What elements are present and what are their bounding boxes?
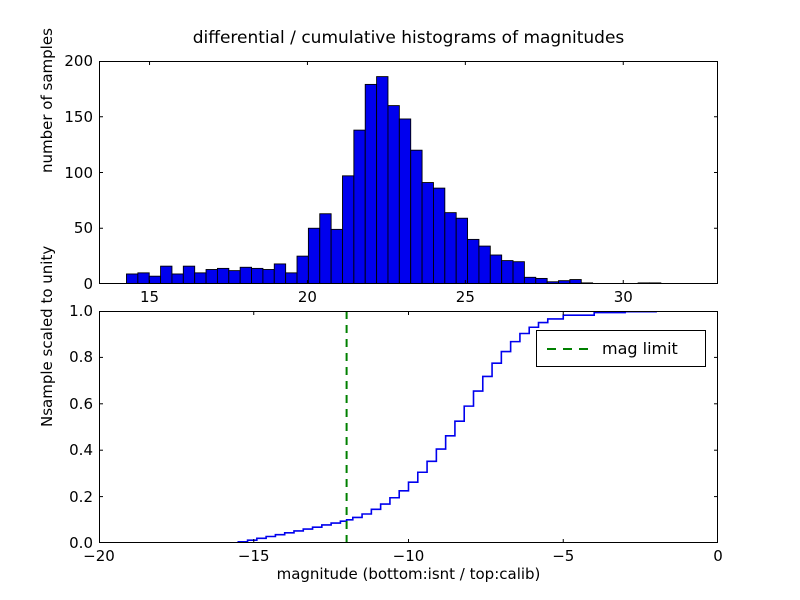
bottom-y-tick: 0.6	[69, 395, 93, 413]
histogram-bar	[217, 268, 228, 284]
top-y-tick: 200	[64, 52, 93, 70]
histogram-bar	[422, 183, 433, 284]
top-x-tick: 30	[614, 288, 633, 306]
histogram-bar	[490, 255, 501, 284]
top-x-tick: 20	[298, 288, 317, 306]
histogram-bar	[308, 228, 319, 284]
top-y-tick: 0	[83, 275, 93, 293]
histogram-bar	[252, 268, 263, 284]
histogram-bar	[161, 266, 172, 284]
histogram-bar	[433, 188, 444, 284]
histogram-bar	[149, 276, 160, 284]
bottom-x-axis-label: magnitude (bottom:isnt / top:calib)	[99, 565, 718, 583]
histogram-bar	[229, 271, 240, 284]
histogram-bar	[377, 77, 388, 284]
histogram-bar	[297, 256, 308, 284]
figure-canvas: differential / cumulative histograms of …	[0, 0, 800, 600]
histogram-bar	[388, 106, 399, 284]
histogram-bar	[456, 218, 467, 284]
histogram-bar	[331, 229, 342, 284]
top-y-tick: 150	[64, 108, 93, 126]
top-y-tick: 50	[74, 219, 93, 237]
histogram-bar	[126, 274, 137, 284]
top-y-tick: 100	[64, 164, 93, 182]
bottom-x-tick: −5	[552, 547, 574, 565]
histogram-bar	[195, 273, 206, 284]
histogram-bar	[365, 84, 376, 284]
bottom-y-tick: 0.4	[69, 441, 93, 459]
bottom-y-axis-label: Nsample scaled to unity	[38, 246, 56, 427]
histogram-bar	[354, 130, 365, 284]
bottom-x-tick: −15	[238, 547, 270, 565]
bottom-y-tick: 0.2	[69, 488, 93, 506]
top-x-tick: 15	[140, 288, 159, 306]
histogram-bar	[183, 266, 194, 284]
top-y-axis-label: number of samples	[38, 28, 56, 173]
histogram-bar	[172, 274, 183, 284]
histogram-bar	[138, 273, 149, 284]
histogram-bar	[240, 267, 251, 284]
histogram-bar	[524, 277, 535, 284]
histogram-bar	[513, 262, 524, 284]
histogram-bar	[411, 150, 422, 284]
bottom-y-tick: 0.8	[69, 348, 93, 366]
top-histogram-axes	[99, 61, 718, 284]
histogram-bar	[206, 270, 217, 285]
bottom-y-tick: 1.0	[69, 302, 93, 320]
histogram-bar	[320, 214, 331, 284]
bottom-x-tick: 0	[713, 547, 723, 565]
top-x-tick: 25	[456, 288, 475, 306]
histogram-bar	[445, 213, 456, 284]
histogram-bar	[468, 239, 479, 284]
histogram-bar	[274, 264, 285, 284]
histogram-bar	[342, 176, 353, 284]
bottom-x-tick: −10	[393, 547, 425, 565]
histogram-bar	[502, 261, 513, 284]
mag-limit-line-icon	[546, 342, 590, 356]
page-title: differential / cumulative histograms of …	[99, 28, 718, 48]
legend: mag limit	[536, 330, 706, 367]
histogram-bar	[263, 270, 274, 285]
histogram-bar	[479, 246, 490, 284]
bottom-x-tick: −20	[83, 547, 115, 565]
histogram-bar	[286, 273, 297, 284]
top-histogram-plot	[99, 61, 718, 284]
legend-label-mag-limit: mag limit	[602, 339, 678, 358]
histogram-bar	[399, 119, 410, 284]
